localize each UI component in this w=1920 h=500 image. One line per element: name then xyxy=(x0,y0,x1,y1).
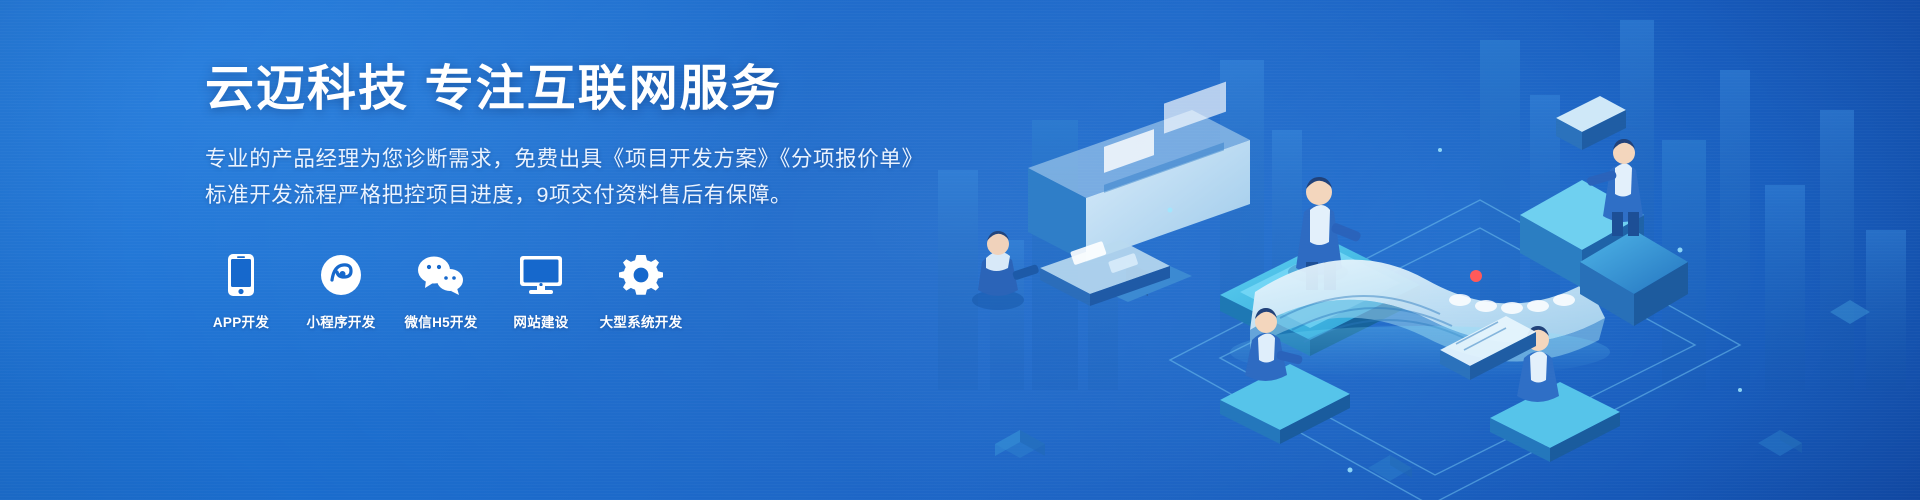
banner-copy: 云迈科技 专注互联网服务 专业的产品经理为您诊断需求，免费出具《项目开发方案》《… xyxy=(205,62,925,331)
mini-program-icon xyxy=(320,253,362,297)
service-item-app[interactable]: APP开发 xyxy=(205,253,277,331)
person-seated-left xyxy=(972,231,1040,310)
service-label: APP开发 xyxy=(213,311,269,331)
service-label: 微信H5开发 xyxy=(404,311,477,331)
isometric-data-platform-illustration xyxy=(920,0,1920,500)
subtitle-line-2: 标准开发流程严格把控项目进度，9项交付资料售后有保障。 xyxy=(205,177,925,213)
monitor-icon xyxy=(518,253,564,297)
service-item-wechat[interactable]: 微信H5开发 xyxy=(405,253,477,331)
page-title: 云迈科技 专注互联网服务 xyxy=(205,62,925,117)
mobile-phone-icon xyxy=(226,253,256,297)
gear-icon xyxy=(619,253,663,297)
service-label: 网站建设 xyxy=(513,311,568,331)
wechat-icon xyxy=(416,253,466,297)
subtitle-line-1: 专业的产品经理为您诊断需求，免费出具《项目开发方案》《分项报价单》 xyxy=(205,141,925,177)
service-item-system[interactable]: 大型系统开发 xyxy=(605,253,677,331)
banner-subtitle: 专业的产品经理为您诊断需求，免费出具《项目开发方案》《分项报价单》 标准开发流程… xyxy=(205,141,925,213)
service-label: 大型系统开发 xyxy=(600,311,683,331)
service-label: 小程序开发 xyxy=(307,311,376,331)
service-item-website[interactable]: 网站建设 xyxy=(505,253,577,331)
service-list: APP开发 小程序开发 xyxy=(205,253,925,331)
promo-banner: 云迈科技 专注互联网服务 专业的产品经理为您诊断需求，免费出具《项目开发方案》《… xyxy=(0,0,1920,500)
service-item-miniprogram[interactable]: 小程序开发 xyxy=(305,253,377,331)
